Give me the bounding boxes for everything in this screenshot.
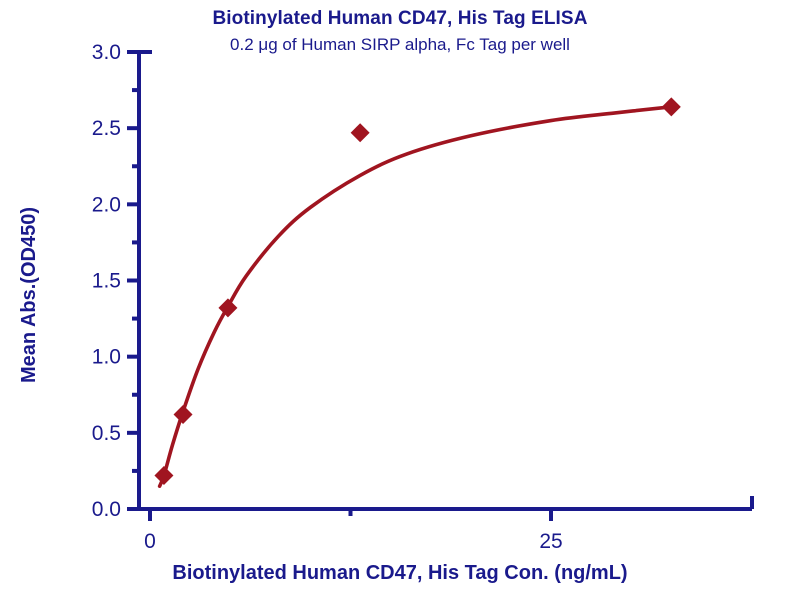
- data-points-group: [154, 97, 680, 485]
- x-axis-label: Biotinylated Human CD47, His Tag Con. (n…: [0, 562, 800, 585]
- x-tick-label: 0: [144, 530, 156, 553]
- y-tick-label: 0.5: [92, 422, 121, 445]
- y-tick-label: 1.5: [92, 270, 121, 293]
- fit-curve-path: [160, 107, 672, 486]
- data-point-marker: [351, 123, 370, 142]
- y-tick-label: 0.0: [92, 498, 121, 521]
- tick-marks-group: [127, 52, 551, 521]
- y-tick-label: 1.0: [92, 346, 121, 369]
- axes-group: [139, 52, 752, 509]
- y-axis-label: Mean Abs.(OD450): [18, 0, 58, 595]
- x-tick-label: 25: [539, 530, 562, 553]
- data-point-marker: [218, 298, 237, 317]
- data-point-marker: [154, 466, 173, 485]
- data-point-marker: [662, 97, 681, 116]
- data-point-marker: [174, 405, 193, 424]
- plot-area: 0.00.51.01.52.02.53.0025: [0, 0, 800, 600]
- y-tick-label: 3.0: [92, 41, 121, 64]
- fit-curve: [160, 107, 672, 486]
- y-tick-label: 2.0: [92, 193, 121, 216]
- elisa-chart: Biotinylated Human CD47, His Tag ELISA 0…: [0, 0, 800, 600]
- y-tick-label: 2.5: [92, 117, 121, 140]
